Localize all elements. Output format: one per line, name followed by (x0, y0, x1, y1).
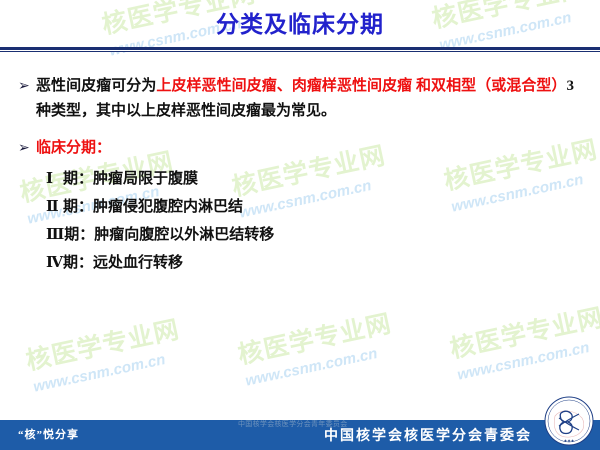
title-divider (0, 47, 600, 52)
arrow-bullet-icon: ➢ (18, 74, 36, 99)
slide-canvas: 核医学专业网 www.csnm.com.cn 核医学专业网 www.csnm.c… (0, 0, 600, 450)
stage-numeral: Ⅰ (46, 165, 63, 193)
classification-segment-3: 和双相型（或混合型） (412, 78, 566, 94)
staging-bullet-text: 临床分期： (36, 136, 574, 161)
footer-slogan: “核”悦分享 (18, 426, 79, 442)
watermark-text-cn: 核医学专业网 (24, 318, 182, 375)
stage-item: Ⅱ期：肿瘤侵犯腹腔内淋巴结 (46, 193, 600, 221)
slide-body: ➢ 恶性间皮瘤可分为上皮样恶性间皮瘤、肉瘤样恶性间皮瘤 和双相型（或混合型）3种… (0, 74, 600, 277)
staging-bullet: ➢ 临床分期： (0, 136, 600, 161)
watermark-text-cn: 核医学专业网 (448, 306, 600, 363)
classification-bullet: ➢ 恶性间皮瘤可分为上皮样恶性间皮瘤、肉瘤样恶性间皮瘤 和双相型（或混合型）3种… (0, 74, 600, 124)
stage-item: Ⅳ期：远处血行转移 (46, 249, 600, 277)
watermark-text-url: www.csnm.com.cn (244, 346, 379, 389)
footer-organization: 中国核学会核医学分会青委会 (324, 425, 532, 445)
watermark-text-cn: 核医学专业网 (236, 312, 394, 369)
stage-description: 远处血行转移 (93, 255, 183, 271)
stage-list: Ⅰ期：肿瘤局限于腹膜 Ⅱ期：肿瘤侵犯腹腔内淋巴结 Ⅲ期：肿瘤向腹腔以外淋巴结转移… (0, 165, 600, 277)
classification-segment-1: 恶性间皮瘤可分为 (36, 78, 156, 94)
stage-label: 期： (63, 199, 93, 215)
watermark-text-url: www.csnm.com.cn (32, 352, 167, 395)
stage-numeral: Ⅳ (46, 249, 63, 277)
classification-bullet-text: 恶性间皮瘤可分为上皮样恶性间皮瘤、肉瘤样恶性间皮瘤 和双相型（或混合型）3种类型… (36, 74, 574, 124)
slide-title: 分类及临床分期 (0, 12, 600, 37)
stage-numeral: Ⅲ (46, 221, 64, 249)
stage-description: 肿瘤局限于腹膜 (93, 171, 198, 187)
stage-item: Ⅰ期：肿瘤局限于腹膜 (46, 165, 600, 193)
csnm-circular-logo: ★★★ (544, 396, 594, 446)
page-title: 分类及临床分期 (216, 12, 384, 37)
classification-segment-2: 上皮样恶性间皮瘤、肉瘤样恶性间皮瘤 (156, 78, 412, 94)
arrow-bullet-icon: ➢ (18, 136, 36, 161)
footer-org-small-text: 中国核学会核医学分会青年委员会 (238, 419, 348, 429)
stage-label: 期： (63, 171, 93, 187)
stage-description: 肿瘤侵犯腹腔内淋巴结 (93, 199, 243, 215)
watermark-text-url: www.csnm.com.cn (456, 340, 591, 383)
stage-description: 肿瘤向腹腔以外淋巴结转移 (94, 227, 274, 243)
stage-label: 期： (63, 255, 93, 271)
stage-numeral: Ⅱ (46, 193, 63, 221)
stage-label: 期： (64, 227, 94, 243)
svg-text:★★★: ★★★ (564, 438, 575, 443)
stage-item: Ⅲ期：肿瘤向腹腔以外淋巴结转移 (46, 221, 600, 249)
